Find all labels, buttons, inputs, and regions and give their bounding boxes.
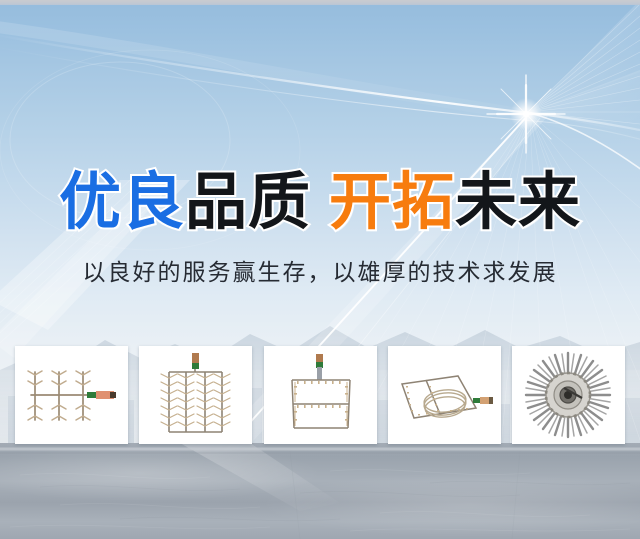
product-card-4[interactable]: [388, 346, 501, 444]
product-card-5[interactable]: [512, 346, 625, 444]
page-subtitle: 以良好的服务赢生存，以雄厚的技术求发展: [0, 258, 640, 288]
plating-rack-comb-type-icon: [15, 346, 128, 444]
page-title: 优良品质开拓未来: [0, 168, 640, 236]
promo-banner: 优良品质开拓未来 以良好的服务赢生存，以雄厚的技术求发展: [0, 0, 640, 539]
headline-segment-2: 品质: [185, 168, 311, 236]
headline-segment-3: 开拓: [329, 168, 455, 236]
headline-segment-1: 优良: [59, 168, 185, 236]
plating-rack-flat-frame-icon: [264, 346, 377, 444]
plating-rack-multi-row-hooks-icon: [139, 346, 252, 444]
plating-rack-frame-with-ring-icon: [388, 346, 501, 444]
plating-rack-radial-spoke-wheel-icon: [512, 346, 625, 444]
headline-segment-4: 未来: [455, 168, 581, 236]
top-edge-strip: [0, 0, 640, 5]
product-card-2[interactable]: [139, 346, 252, 444]
product-card-list: [15, 346, 625, 444]
ground-texture-icon: [0, 443, 640, 539]
product-card-1[interactable]: [15, 346, 128, 444]
product-card-3[interactable]: [264, 346, 377, 444]
ground-surface: [0, 443, 640, 539]
